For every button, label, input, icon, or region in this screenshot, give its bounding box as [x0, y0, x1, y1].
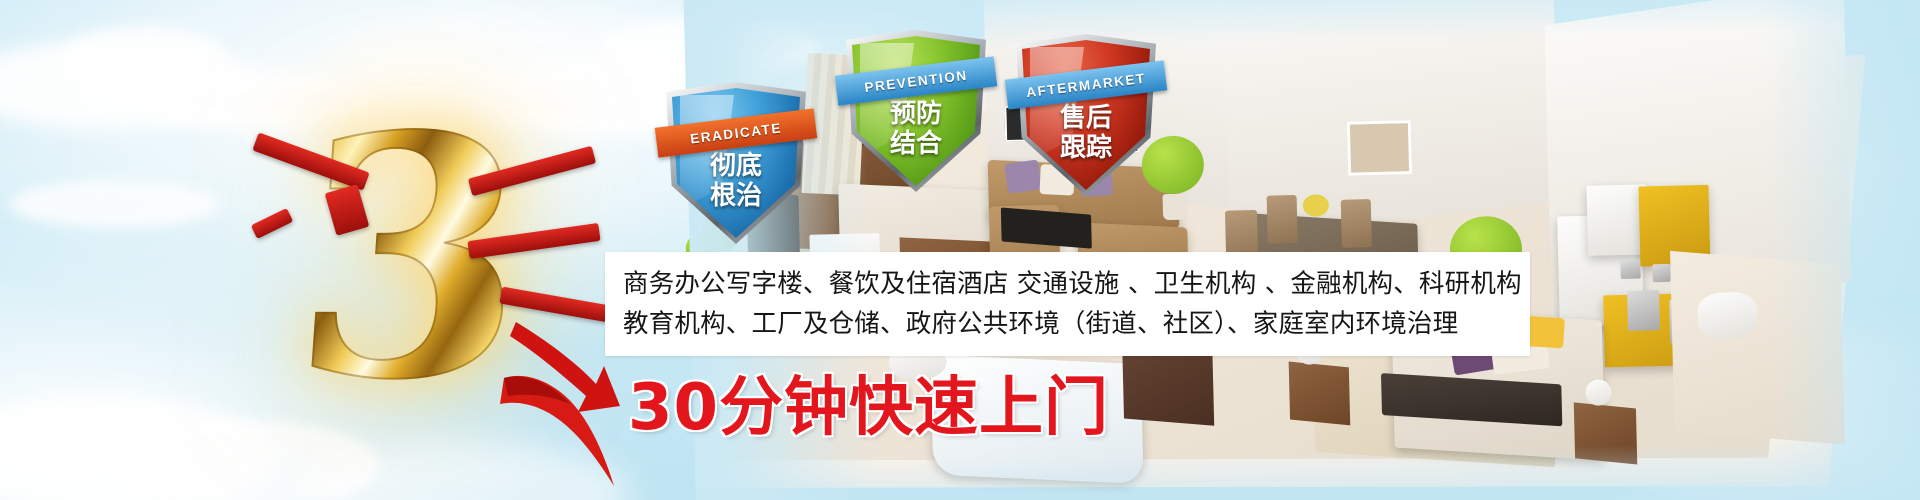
shield-cn-line2: 根治 — [672, 182, 800, 210]
promo-banner: 彻底 根治 ERADICATE 预防 结合 PREVENTION 售后 跟踪 A… — [0, 0, 1920, 500]
service-scope-line-2: 教育机构、工厂及仓储、政府公共环境（街道、社区）、家庭室内环境治理 — [623, 304, 1530, 344]
service-scope-line-1: 商务办公写字楼、餐饮及住宿酒店 交通设施 、卫生机构 、金融机构、科研机构 — [623, 264, 1530, 304]
shield-cn-line1: 售后 — [1022, 104, 1150, 132]
shield-cn-line1: 彻底 — [672, 152, 800, 180]
shield-cn-line1: 预防 — [852, 100, 980, 128]
shield-banner-label: ERADICATE — [689, 120, 782, 146]
shield-banner-label: PREVENTION — [864, 67, 969, 95]
shield-cn-line2: 结合 — [852, 130, 980, 158]
service-scope-panel: 商务办公写字楼、餐饮及住宿酒店 交通设施 、卫生机构 、金融机构、科研机构 教育… — [605, 252, 1530, 356]
shield-cn-line2: 跟踪 — [1022, 134, 1150, 162]
headline-text: 30分钟快速上门 — [628, 356, 1109, 448]
